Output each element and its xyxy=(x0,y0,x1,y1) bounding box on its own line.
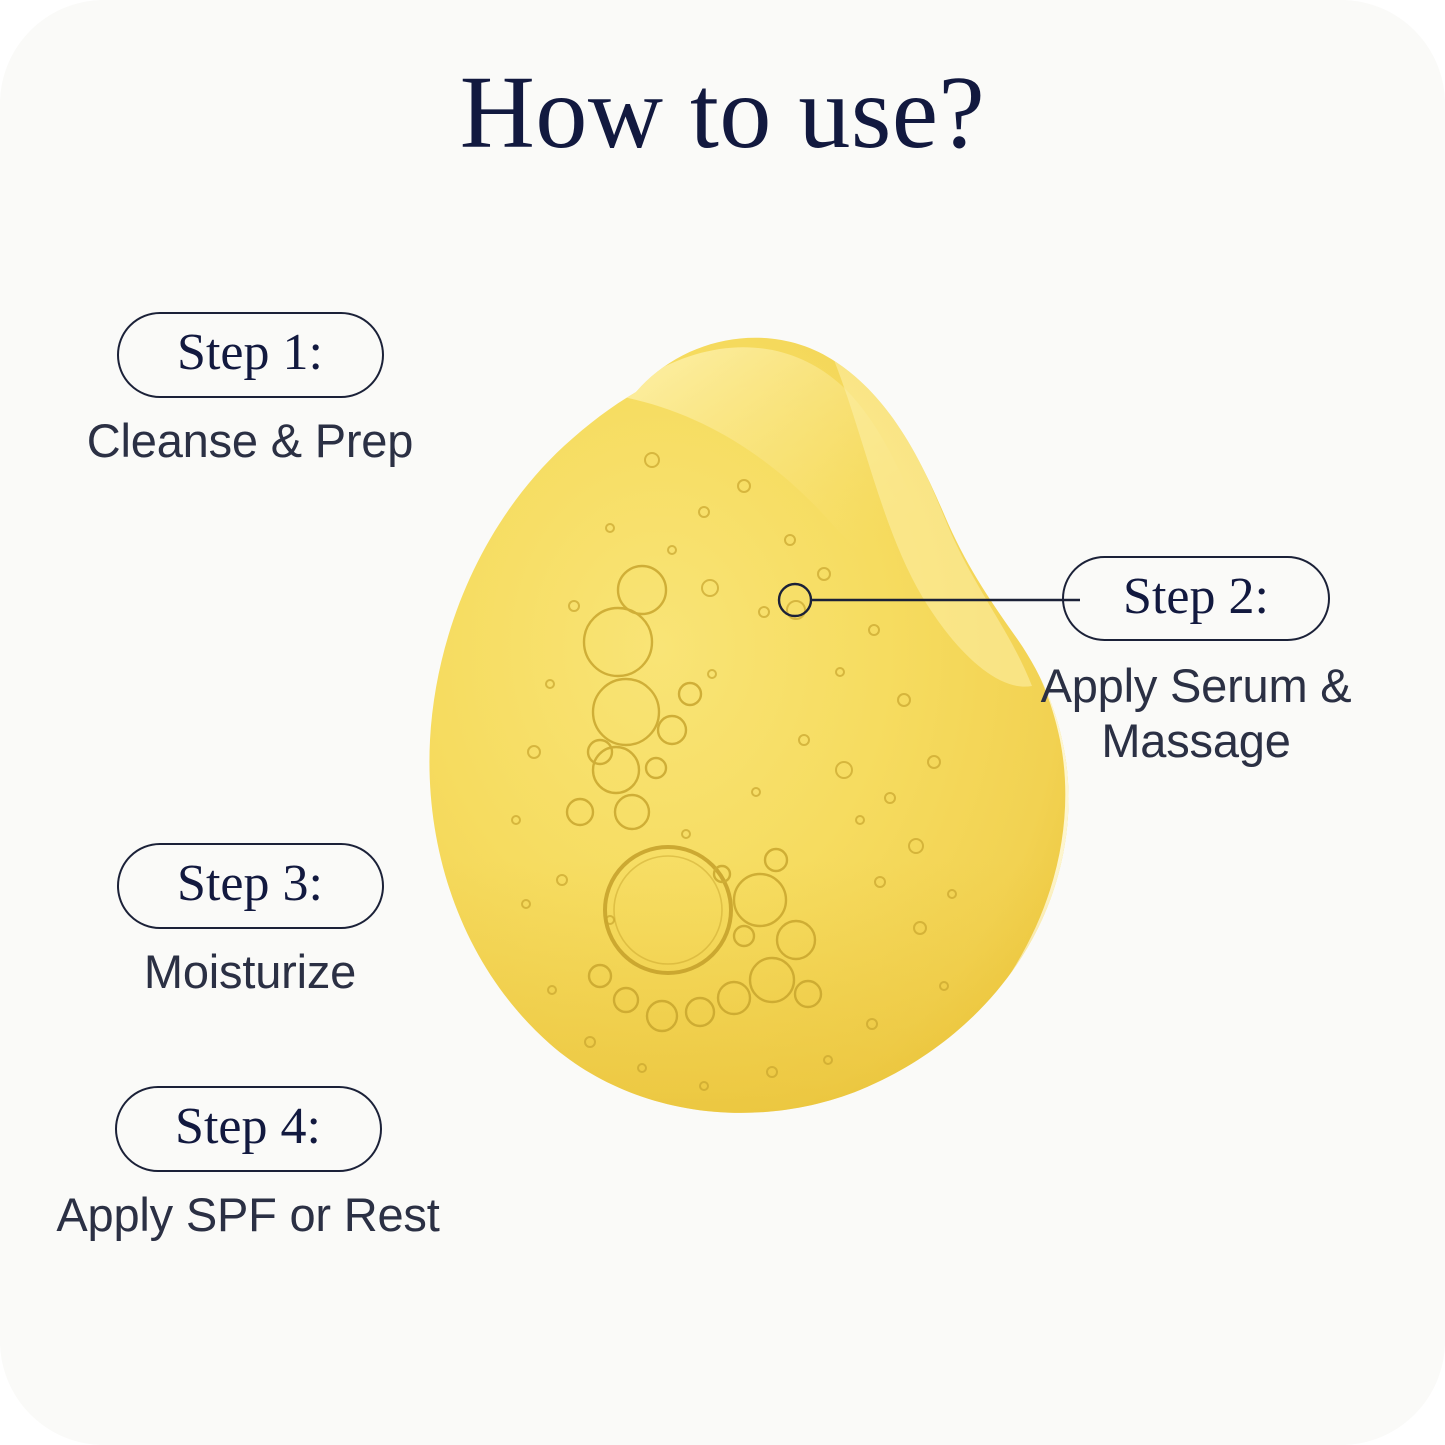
step-1-caption: Cleanse & Prep xyxy=(60,414,440,469)
step-2-caption: Apply Serum & Massage xyxy=(1038,659,1354,768)
step-1-pill-label: Step 1: xyxy=(177,327,323,379)
step-block-4: Step 4: Apply SPF or Rest xyxy=(48,1086,448,1243)
step-4-pill[interactable]: Step 4: xyxy=(115,1086,382,1172)
step-block-1: Step 1: Cleanse & Prep xyxy=(60,312,440,469)
step-2-pill[interactable]: Step 2: xyxy=(1062,556,1330,641)
step-2-pill-label: Step 2: xyxy=(1123,571,1269,623)
step-1-pill[interactable]: Step 1: xyxy=(117,312,384,398)
serum-droplet-illustration xyxy=(404,300,1084,1130)
step-block-2: Step 2: Apply Serum & Massage xyxy=(1038,556,1354,768)
step-block-3: Step 3: Moisturize xyxy=(60,843,440,1000)
step-4-pill-label: Step 4: xyxy=(175,1101,321,1153)
step-4-caption: Apply SPF or Rest xyxy=(48,1188,448,1243)
step-3-pill-label: Step 3: xyxy=(177,858,323,910)
illustration-canvas: How to use? Step 1: Cleanse & Prep Step … xyxy=(0,0,1445,1445)
step-3-caption: Moisturize xyxy=(60,945,440,1000)
page-title: How to use? xyxy=(0,56,1445,170)
step-3-pill[interactable]: Step 3: xyxy=(117,843,384,929)
